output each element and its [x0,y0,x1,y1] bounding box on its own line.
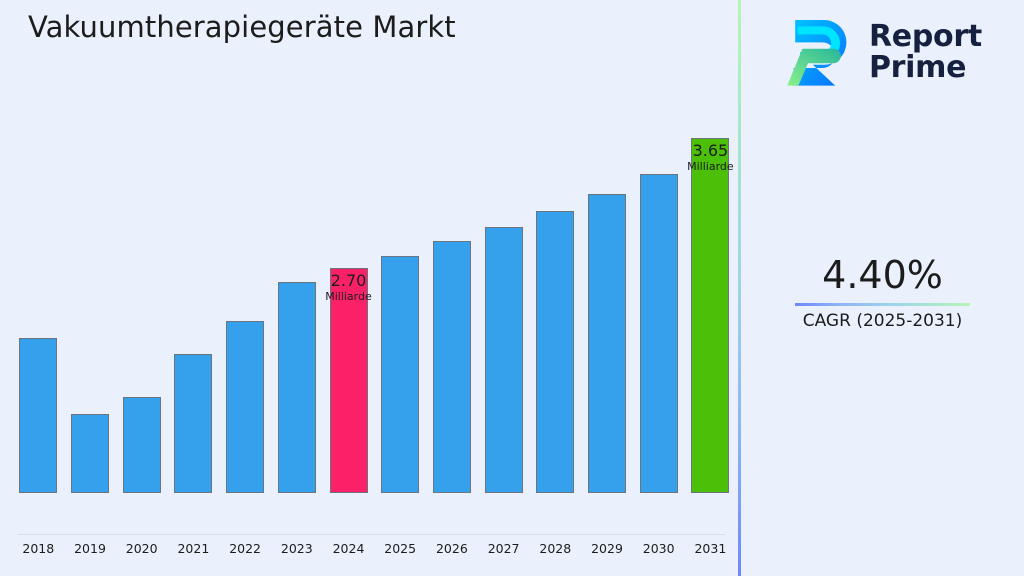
brand-name-line2: Prime [869,50,966,85]
cagr-block: 4.40% CAGR (2025-2031) [741,252,1024,332]
cagr-divider-rule [795,303,970,306]
brand-logo: Report Prime [776,12,982,92]
side-panel: Report Prime 4.40% CAGR (2025-2031) [741,0,1024,576]
bar-2030[interactable] [640,174,678,493]
bar-2029[interactable] [588,194,626,493]
chart-infographic: Vakuumtherapiegeräte Markt [0,0,1024,576]
bar-2018[interactable] [19,338,57,493]
bar-2021[interactable] [174,354,212,493]
bar-2023[interactable] [278,282,316,493]
bar-2019[interactable] [71,414,109,493]
bar-2025[interactable] [381,256,419,493]
cagr-value: 4.40% [741,252,1024,298]
bar-2024[interactable] [330,268,368,493]
bar-2031[interactable] [691,138,729,493]
bar-2020[interactable] [123,397,161,493]
bar-2026[interactable] [433,241,471,493]
plot-area [0,0,738,535]
report-prime-logo-icon [776,12,856,92]
x-axis-tick-2031: 2031 [680,541,740,556]
bar-2028[interactable] [536,211,574,493]
bar-2022[interactable] [226,321,264,493]
bar-2027[interactable] [485,227,523,493]
chart-panel [0,0,738,576]
x-axis-baseline [18,534,725,535]
cagr-caption: CAGR (2025-2031) [741,310,1024,332]
brand-name: Report Prime [869,21,982,83]
brand-name-line1: Report [869,19,982,54]
